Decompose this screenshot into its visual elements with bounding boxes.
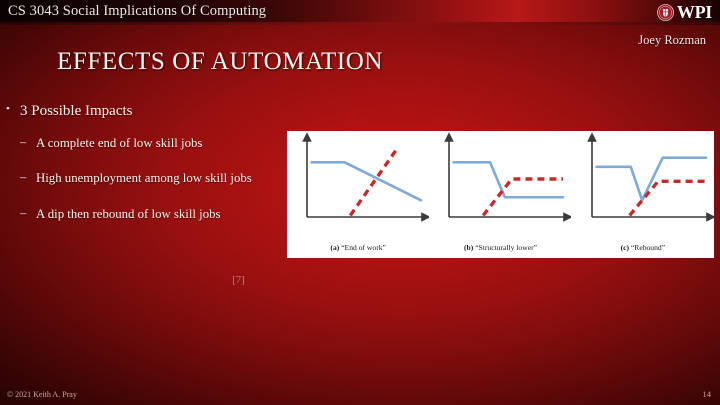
chart-c-caption: (c) “Rebound” [572, 243, 714, 252]
page-title: EFFECTS OF AUTOMATION [57, 48, 383, 76]
chart-b-caption-label: (b) [464, 243, 473, 252]
course-title: CS 3043 Social Implications Of Computing [8, 3, 266, 20]
chart-c: (c) “Rebound” [572, 131, 714, 258]
chart-a: (a) “End of work” [287, 131, 429, 258]
bullet-level2: – High unemployment among low skill jobs [0, 171, 288, 185]
figure-panel: (a) “End of work” (b) “Structurally lowe… [287, 131, 714, 258]
wpi-seal-icon [657, 4, 674, 21]
footer-page-number: 14 [703, 389, 712, 399]
bullet-marker-icon: • [6, 103, 10, 115]
bullet-level2-text: A dip then rebound of low skill jobs [36, 207, 220, 221]
bullet-level2: – A dip then rebound of low skill jobs [0, 207, 288, 221]
chart-c-plot [572, 131, 714, 243]
slide-canvas: CS 3043 Social Implications Of Computing… [0, 0, 720, 405]
dash-marker-icon: – [20, 206, 26, 220]
bullet-level1: • 3 Possible Impacts [0, 103, 288, 120]
chart-b: (b) “Structurally lower” [429, 131, 571, 258]
bullet-level2-text: High unemployment among low skill jobs [36, 171, 252, 185]
dash-marker-icon: – [20, 170, 26, 184]
presenter-name: Joey Rozman [638, 33, 706, 48]
bullet-level1-text: 3 Possible Impacts [20, 103, 133, 119]
citation-text: [7] [232, 275, 244, 286]
citation: [7] [0, 275, 720, 286]
wpi-logo: WPI [657, 1, 712, 23]
bullet-level2-text: A complete end of low skill jobs [36, 136, 202, 150]
chart-b-plot [429, 131, 571, 243]
bullet-level2: – A complete end of low skill jobs [0, 136, 288, 150]
chart-b-caption: (b) “Structurally lower” [429, 243, 571, 252]
chart-c-caption-label: (c) [621, 243, 629, 252]
footer-copyright: © 2021 Keith A. Pray [7, 390, 77, 399]
bullet-list: • 3 Possible Impacts – A complete end of… [0, 103, 288, 242]
chart-c-caption-text: “Rebound” [631, 243, 665, 252]
dash-marker-icon: – [20, 135, 26, 149]
chart-a-caption-label: (a) [330, 243, 339, 252]
header-bar: CS 3043 Social Implications Of Computing… [0, 0, 720, 25]
chart-a-caption: (a) “End of work” [287, 243, 429, 252]
wpi-wordmark: WPI [677, 3, 712, 21]
chart-a-plot [287, 131, 429, 243]
chart-a-caption-text: “End of work” [341, 243, 386, 252]
chart-b-caption-text: “Structurally lower” [475, 243, 537, 252]
